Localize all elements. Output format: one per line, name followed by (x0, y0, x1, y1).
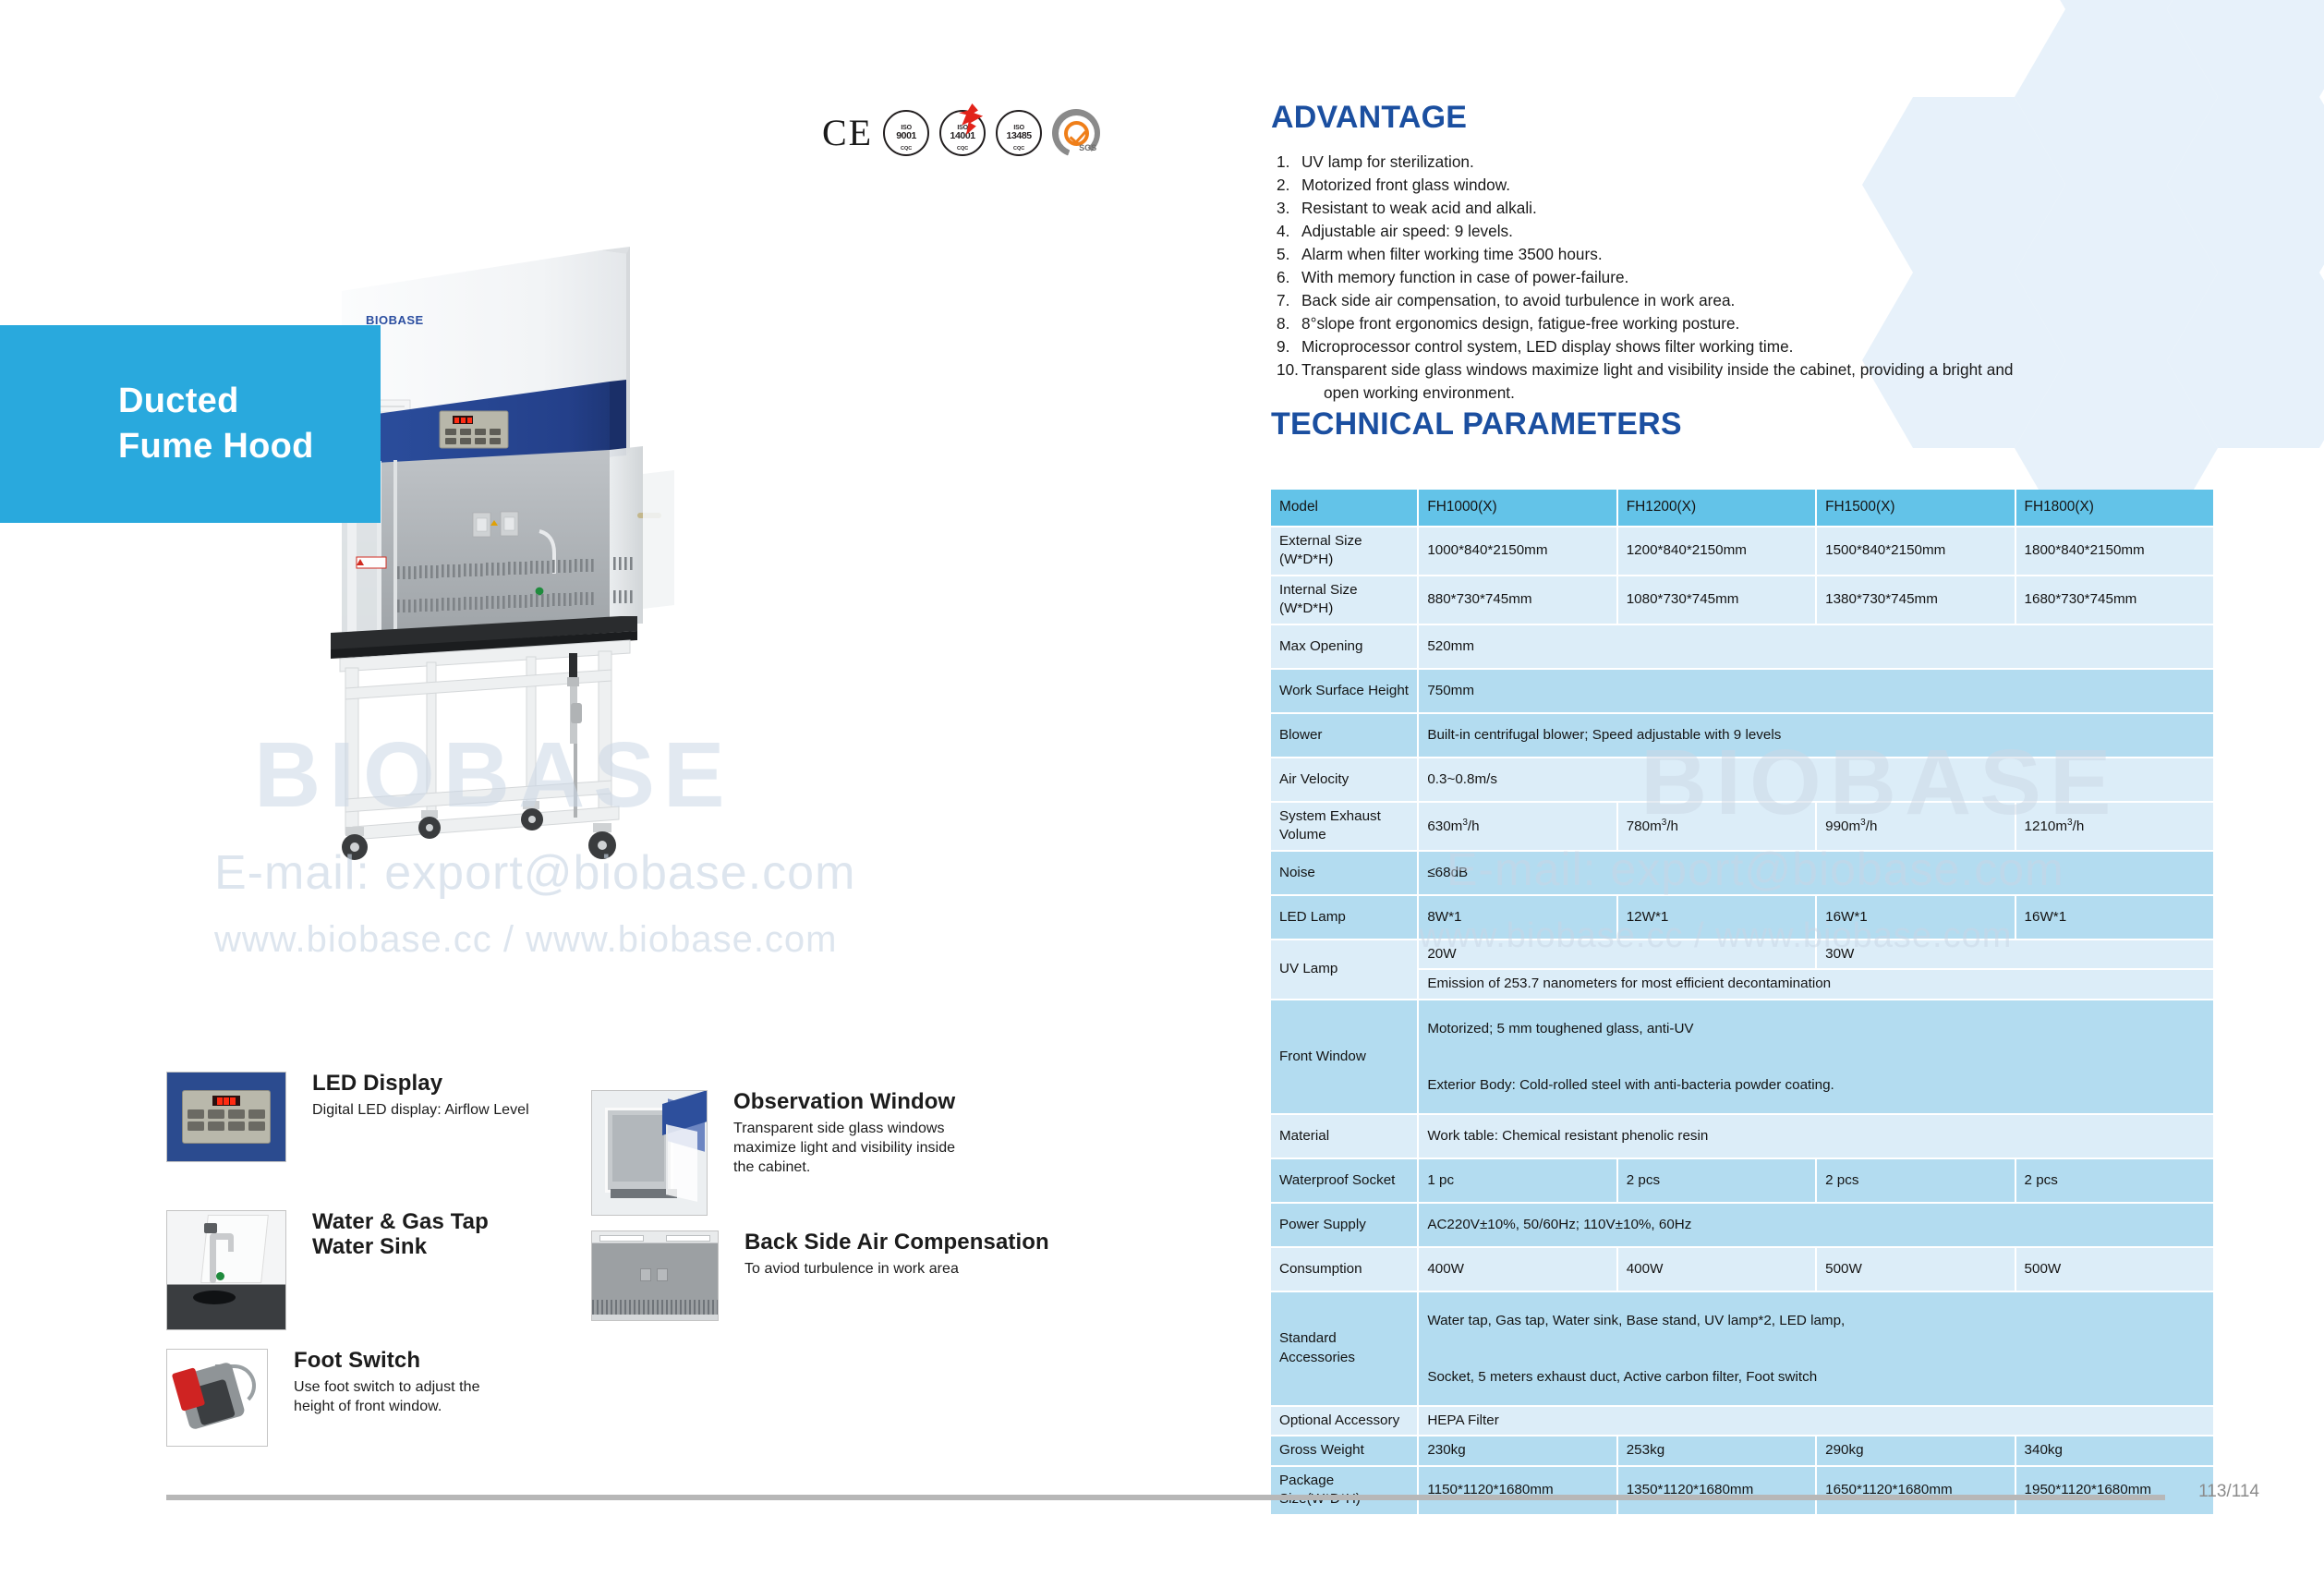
table-row-uv-lamp: UV Lamp 20W 30W (1271, 940, 2215, 971)
table-row-blower: Blower Built-in centrifugal blower; Spee… (1271, 714, 2215, 758)
feature-observation-window: Observation Window Transparent side glas… (591, 1090, 955, 1216)
advantage-item-text: 8°slope front ergonomics design, fatigue… (1301, 312, 2209, 335)
cell-value: ≤68dB (1419, 852, 2215, 896)
cell-value: 1210m3/h (2016, 803, 2215, 852)
feature-title: Water & Gas Tap (312, 1210, 489, 1235)
row-label: Standard Accessories (1271, 1292, 1419, 1407)
cell-value: 1 pc (1419, 1159, 1617, 1204)
iso-number: 13485 (1007, 131, 1032, 141)
feature-desc: Transparent side glass windows maximize … (733, 1119, 955, 1177)
cell-value: 2 pcs (1817, 1159, 2015, 1204)
led-display-thumbnail (166, 1072, 286, 1162)
product-title-banner: Ducted Fume Hood (0, 325, 381, 523)
row-label: Material (1271, 1115, 1419, 1159)
cell-value: 400W (1419, 1248, 1617, 1292)
advantage-item: 1. UV lamp for sterilization. (1277, 151, 2209, 174)
advantage-item: 8. 8°slope front ergonomics design, fati… (1277, 312, 2209, 335)
row-label: Work Surface Height (1271, 670, 1419, 714)
table-row-noise: Noise ≤68dB (1271, 852, 2215, 896)
advantage-item-text: Resistant to weak acid and alkali. (1301, 197, 2209, 220)
advantage-item: 3. Resistant to weak acid and alkali. (1277, 197, 2209, 220)
technical-parameters-heading: TECHNICAL PARAMETERS (1271, 406, 1682, 442)
row-label: Internal Size (W*D*H) (1271, 576, 1419, 625)
table-header-fh1800: FH1800(X) (2016, 490, 2215, 527)
iso-number: 9001 (896, 131, 916, 141)
cell-value: 2 pcs (1618, 1159, 1817, 1204)
product-image-ducted-fume-hood: BIOBASE (305, 236, 933, 1039)
table-row-consumption: Consumption 400W 400W 500W 500W (1271, 1248, 2215, 1292)
row-label: Noise (1271, 852, 1419, 896)
foot-switch-thumbnail (166, 1349, 268, 1447)
row-label: Power Supply (1271, 1204, 1419, 1248)
table-row-material: Material Work table: Chemical resistant … (1271, 1115, 2215, 1159)
table-row-power-supply: Power Supply AC220V±10%, 50/60Hz; 110V±1… (1271, 1204, 2215, 1248)
feature-title: Back Side Air Compensation (744, 1230, 1049, 1255)
technical-parameters-table: Model FH1000(X) FH1200(X) FH1500(X) FH18… (1271, 490, 2215, 1516)
product-title-line1: Ducted (118, 379, 381, 424)
iso-foot: CQC (1013, 147, 1024, 152)
back-side-air-compensation-thumbnail (591, 1230, 719, 1321)
iso-13485-badge-icon: ISO 13485 CQC (996, 110, 1042, 156)
row-label: UV Lamp (1271, 940, 1419, 1000)
advantage-item-text: Adjustable air speed: 9 levels. (1301, 220, 2209, 243)
table-row-air-velocity: Air Velocity 0.3~0.8m/s (1271, 758, 2215, 803)
feature-title: LED Display (312, 1072, 529, 1097)
table-row-led-lamp: LED Lamp 8W*1 12W*1 16W*1 16W*1 (1271, 896, 2215, 940)
feature-water-gas-tap: Water & Gas Tap Water Sink (166, 1210, 489, 1330)
advantage-item-number: 10. (1277, 358, 1301, 405)
iso-number: 14001 (950, 131, 975, 141)
advantage-item-number: 2. (1277, 174, 1301, 197)
row-label: External Size (W*D*H) (1271, 527, 1419, 576)
advantage-item-number: 5. (1277, 243, 1301, 266)
table-row-front-window: Front Window Motorized; 5 mm toughened g… (1271, 1000, 2215, 1058)
advantage-item-text: Back side air compensation, to avoid tur… (1301, 289, 2209, 312)
cell-value: 340kg (2016, 1436, 2215, 1467)
advantage-item: 9. Microprocessor control system, LED di… (1277, 335, 2209, 358)
cell-value: 290kg (1817, 1436, 2015, 1467)
cell-value: 1000*840*2150mm (1419, 527, 1617, 576)
page-number: 113/114 (2198, 1482, 2259, 1502)
advantage-heading: ADVANTAGE (1271, 100, 1467, 136)
cell-value: 1200*840*2150mm (1618, 527, 1817, 576)
row-label: Air Velocity (1271, 758, 1419, 803)
advantage-item-number: 7. (1277, 289, 1301, 312)
cell-value: 253kg (1618, 1436, 1817, 1467)
advantage-item-number: 6. (1277, 266, 1301, 289)
cell-value: Work table: Chemical resistant phenolic … (1419, 1115, 2215, 1159)
table-row-optional-accessory: Optional Accessory HEPA Filter (1271, 1407, 2215, 1437)
table-header-row: Model FH1000(X) FH1200(X) FH1500(X) FH18… (1271, 490, 2215, 527)
cell-value: 16W*1 (1817, 896, 2015, 940)
cell-value: Built-in centrifugal blower; Speed adjus… (1419, 714, 2215, 758)
left-column: CE ISO 9001 CQC ISO 14001 CQC ISO 13485 … (0, 0, 1238, 1588)
advantage-item: 4. Adjustable air speed: 9 levels. (1277, 220, 2209, 243)
cell-value: 2 pcs (2016, 1159, 2215, 1204)
cell-value: 1680*730*745mm (2016, 576, 2215, 625)
advantage-item-text: With memory function in case of power-fa… (1301, 266, 2209, 289)
advantage-item: 2. Motorized front glass window. (1277, 174, 2209, 197)
iso-14001-badge-icon: ISO 14001 CQC (939, 110, 986, 156)
table-row-gross-weight: Gross Weight 230kg 253kg 290kg 340kg (1271, 1436, 2215, 1467)
cell-value: 1350*1120*1680mm (1618, 1467, 1817, 1516)
row-label: System Exhaust Volume (1271, 803, 1419, 852)
feature-foot-switch: Foot Switch Use foot switch to adjust th… (166, 1349, 480, 1447)
row-label: Front Window (1271, 1000, 1419, 1115)
cell-value: Motorized; 5 mm toughened glass, anti-UV (1419, 1000, 2215, 1058)
sgs-badge-icon: SGS (1052, 109, 1100, 157)
row-label: Max Opening (1271, 625, 1419, 670)
footer-divider (166, 1495, 2165, 1500)
row-label: Gross Weight (1271, 1436, 1419, 1467)
advantage-item-text: Motorized front glass window. (1301, 174, 2209, 197)
advantage-item: 10. Transparent side glass windows maxim… (1277, 358, 2209, 405)
advantage-item-number: 3. (1277, 197, 1301, 220)
cell-value: 1380*730*745mm (1817, 576, 2015, 625)
cell-value: 750mm (1419, 670, 2215, 714)
cell-value: 1650*1120*1680mm (1817, 1467, 2015, 1516)
catalog-page: CE ISO 9001 CQC ISO 14001 CQC ISO 13485 … (0, 0, 2324, 1588)
cell-value: 8W*1 (1419, 896, 1617, 940)
cell-value: 1500*840*2150mm (1817, 527, 2015, 576)
advantage-item-text: Transparent side glass windows maximize … (1301, 360, 2013, 379)
advantage-item: 7. Back side air compensation, to avoid … (1277, 289, 2209, 312)
cell-value: Exterior Body: Cold-rolled steel with an… (1419, 1058, 2215, 1115)
table-row-package-size: Package Size(W*D*H) 1150*1120*1680mm 135… (1271, 1467, 2215, 1516)
cell-value: 1080*730*745mm (1618, 576, 1817, 625)
table-header-fh1200: FH1200(X) (1618, 490, 1817, 527)
feature-desc: Digital LED display: Airflow Level (312, 1100, 529, 1120)
iso-foot: CQC (957, 147, 968, 152)
cell-value: 630m3/h (1419, 803, 1617, 852)
advantage-item-text: Alarm when filter working time 3500 hour… (1301, 243, 2209, 266)
cell-value: 1150*1120*1680mm (1419, 1467, 1617, 1516)
feature-desc: Use foot switch to adjust the height of … (294, 1377, 480, 1416)
advantage-item: 6. With memory function in case of power… (1277, 266, 2209, 289)
cell-value: 780m3/h (1618, 803, 1817, 852)
feature-title: Observation Window (733, 1090, 955, 1115)
table-header-fh1000: FH1000(X) (1419, 490, 1617, 527)
feature-title: Foot Switch (294, 1349, 480, 1374)
cell-value: 990m3/h (1817, 803, 2015, 852)
table-row-external-size: External Size (W*D*H) 1000*840*2150mm 12… (1271, 527, 2215, 576)
cell-value: 500W (2016, 1248, 2215, 1292)
advantage-item-text-cont: open working environment. (1301, 382, 2209, 405)
advantage-item-number: 8. (1277, 312, 1301, 335)
advantage-item: 5. Alarm when filter working time 3500 h… (1277, 243, 2209, 266)
ce-mark-icon: CE (822, 115, 873, 152)
table-row-system-exhaust-volume: System Exhaust Volume 630m3/h 780m3/h 99… (1271, 803, 2215, 852)
advantage-item-number: 9. (1277, 335, 1301, 358)
cell-value: 230kg (1419, 1436, 1617, 1467)
cell-value: 20W (1419, 940, 1817, 971)
cell-value: 30W (1817, 940, 2215, 971)
table-row-waterproof-socket: Waterproof Socket 1 pc 2 pcs 2 pcs 2 pcs (1271, 1159, 2215, 1204)
iso-9001-badge-icon: ISO 9001 CQC (883, 110, 929, 156)
cell-value: AC220V±10%, 50/60Hz; 110V±10%, 60Hz (1419, 1204, 2215, 1248)
cell-value: Emission of 253.7 nanometers for most ef… (1419, 970, 2215, 1000)
row-label: Waterproof Socket (1271, 1159, 1419, 1204)
feature-back-side-air-compensation: Back Side Air Compensation To aviod turb… (591, 1230, 1049, 1321)
feature-title2: Water Sink (312, 1235, 489, 1260)
table-header-model: Model (1271, 490, 1419, 527)
table-row-internal-size: Internal Size (W*D*H) 880*730*745mm 1080… (1271, 576, 2215, 625)
cell-value: 1950*1120*1680mm (2016, 1467, 2215, 1516)
advantage-list: 1. UV lamp for sterilization. 2. Motoriz… (1277, 151, 2209, 405)
cell-value: 12W*1 (1618, 896, 1817, 940)
cell-value: 400W (1618, 1248, 1817, 1292)
row-label: LED Lamp (1271, 896, 1419, 940)
observation-window-thumbnail (591, 1090, 708, 1216)
cell-value: 0.3~0.8m/s (1419, 758, 2215, 803)
cell-value: Socket, 5 meters exhaust duct, Active ca… (1419, 1350, 2215, 1407)
iso-foot: CQC (901, 147, 912, 152)
row-label: Optional Accessory (1271, 1407, 1419, 1437)
cell-value: 1800*840*2150mm (2016, 527, 2215, 576)
sgs-label: SGS (1079, 143, 1096, 152)
table-row-max-opening: Max Opening 520mm (1271, 625, 2215, 670)
cell-value: 880*730*745mm (1419, 576, 1617, 625)
table-row-standard-accessories: Standard Accessories Water tap, Gas tap,… (1271, 1292, 2215, 1350)
table-row-work-surface-height: Work Surface Height 750mm (1271, 670, 2215, 714)
feature-led-display: LED Display Digital LED display: Airflow… (166, 1072, 529, 1162)
feature-desc: To aviod turbulence in work area (744, 1259, 1049, 1279)
row-label: Consumption (1271, 1248, 1419, 1292)
cell-value: HEPA Filter (1419, 1407, 2215, 1437)
advantage-item-text: UV lamp for sterilization. (1301, 151, 2209, 174)
row-label: Blower (1271, 714, 1419, 758)
cell-value: 16W*1 (2016, 896, 2215, 940)
advantage-item-number: 1. (1277, 151, 1301, 174)
row-label: Package Size(W*D*H) (1271, 1467, 1419, 1516)
table-header-fh1500: FH1500(X) (1817, 490, 2015, 527)
certification-badges: CE ISO 9001 CQC ISO 14001 CQC ISO 13485 … (822, 109, 1100, 157)
water-gas-tap-thumbnail (166, 1210, 286, 1330)
cell-value: 520mm (1419, 625, 2215, 670)
advantage-item-text: Microprocessor control system, LED displ… (1301, 335, 2209, 358)
product-title-line2: Fume Hood (118, 424, 381, 469)
cell-value: 500W (1817, 1248, 2015, 1292)
advantage-item-number: 4. (1277, 220, 1301, 243)
cell-value: Water tap, Gas tap, Water sink, Base sta… (1419, 1292, 2215, 1350)
